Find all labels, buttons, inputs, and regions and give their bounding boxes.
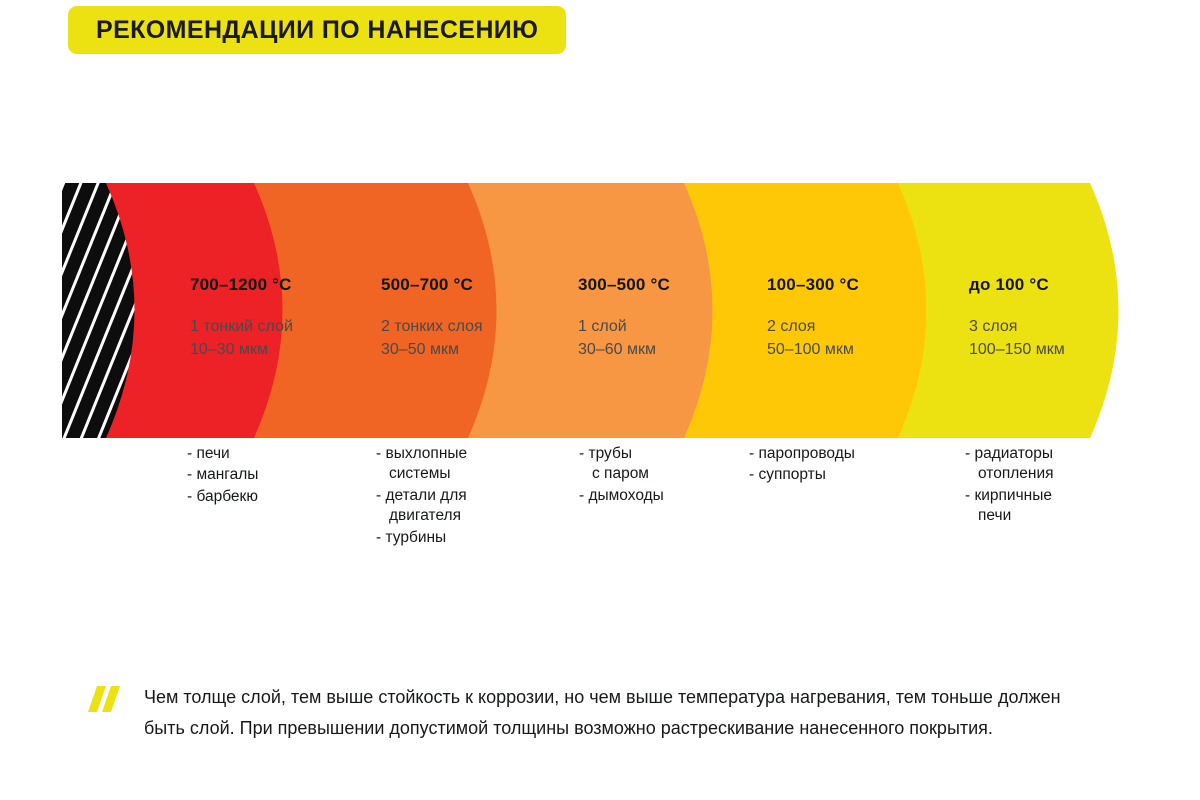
quote-text: Чем толще слой, тем выше стойкость к кор… xyxy=(144,682,1084,744)
list-item: - суппорты xyxy=(749,465,858,485)
application-list-4: - паропроводы - суппорты xyxy=(749,444,858,487)
list-item: - мангалы xyxy=(187,465,262,485)
list-item: - печи xyxy=(187,444,262,464)
band-temperature-3: 300–500 °C xyxy=(578,275,670,295)
list-item: - трубы с паром xyxy=(579,444,667,485)
quote-slash-icon xyxy=(88,686,122,712)
temperature-band-chart: 700–1200 °C 1 тонкий слой 10–30 мкм 500–… xyxy=(62,183,1137,438)
band-label-2: 500–700 °C 2 тонких слоя 30–50 мкм xyxy=(381,275,483,361)
list-item: - паропроводы xyxy=(749,444,858,464)
band-label-3: 300–500 °C 1 слой 30–60 мкм xyxy=(578,275,670,361)
band-thickness-2: 30–50 мкм xyxy=(381,339,483,362)
footer-quote: Чем толще слой, тем выше стойкость к кор… xyxy=(88,682,1138,744)
band-label-4: 100–300 °C 2 слоя 50–100 мкм xyxy=(767,275,859,361)
band-temperature-4: 100–300 °C xyxy=(767,275,859,295)
band-layer-count-1: 1 тонкий слой xyxy=(190,316,293,339)
list-item: - турбины xyxy=(376,528,471,548)
band-label-1: 700–1200 °C 1 тонкий слой 10–30 мкм xyxy=(190,275,293,361)
application-list-3: - трубы с паром - дымоходы xyxy=(579,444,667,507)
list-item: - радиаторы отопления xyxy=(965,444,1057,485)
band-thickness-4: 50–100 мкм xyxy=(767,339,859,362)
application-list-1: - печи - мангалы - барбекю xyxy=(187,444,262,508)
list-item: - выхлопные системы xyxy=(376,444,471,485)
band-layer-count-4: 2 слоя xyxy=(767,316,859,339)
application-lists: - печи - мангалы - барбекю - выхлопные с… xyxy=(62,444,1182,574)
band-layers-1: 1 тонкий слой 10–30 мкм xyxy=(190,316,293,361)
band-thickness-1: 10–30 мкм xyxy=(190,339,293,362)
list-item: - детали для двигателя xyxy=(376,486,471,527)
band-layers-5: 3 слоя 100–150 мкм xyxy=(969,316,1065,361)
application-list-2: - выхлопные системы - детали для двигате… xyxy=(376,444,471,549)
band-label-5: до 100 °C 3 слоя 100–150 мкм xyxy=(969,275,1065,361)
band-layers-3: 1 слой 30–60 мкм xyxy=(578,316,670,361)
band-temperature-2: 500–700 °C xyxy=(381,275,483,295)
band-layers-2: 2 тонких слоя 30–50 мкм xyxy=(381,316,483,361)
list-item: - кирпичные печи xyxy=(965,486,1057,527)
band-layer-count-5: 3 слоя xyxy=(969,316,1065,339)
band-labels: 700–1200 °C 1 тонкий слой 10–30 мкм 500–… xyxy=(62,183,1137,438)
band-layer-count-3: 1 слой xyxy=(578,316,670,339)
band-temperature-5: до 100 °C xyxy=(969,275,1065,295)
band-layer-count-2: 2 тонких слоя xyxy=(381,316,483,339)
list-item: - барбекю xyxy=(187,487,262,507)
list-item: - дымоходы xyxy=(579,486,667,506)
band-temperature-1: 700–1200 °C xyxy=(190,275,293,295)
page-title: РЕКОМЕНДАЦИИ ПО НАНЕСЕНИЮ xyxy=(96,16,538,45)
application-list-5: - радиаторы отопления - кирпичные печи xyxy=(965,444,1057,528)
band-layers-4: 2 слоя 50–100 мкм xyxy=(767,316,859,361)
band-thickness-5: 100–150 мкм xyxy=(969,339,1065,362)
band-thickness-3: 30–60 мкм xyxy=(578,339,670,362)
page-title-badge: РЕКОМЕНДАЦИИ ПО НАНЕСЕНИЮ xyxy=(68,6,566,54)
